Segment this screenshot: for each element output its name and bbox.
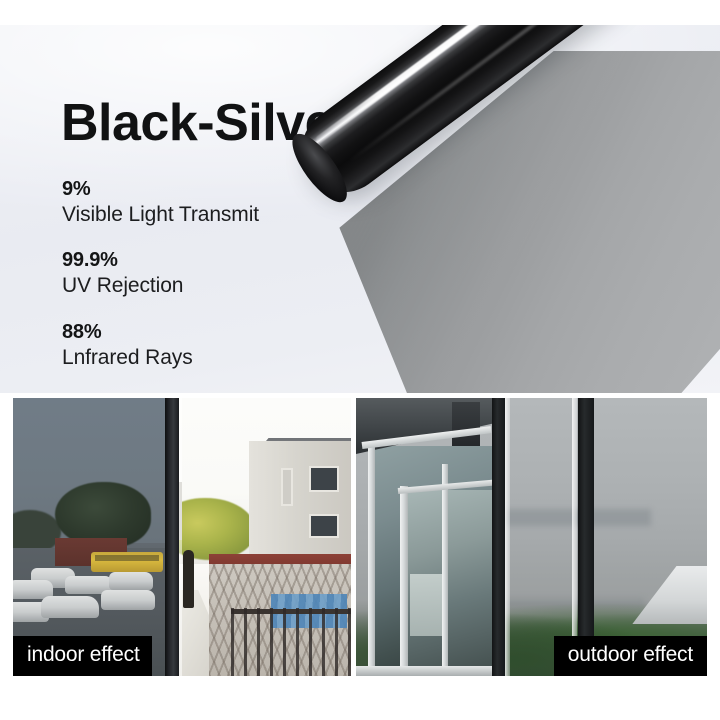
mullion-highlight <box>572 398 577 676</box>
person-silhouette <box>183 550 194 608</box>
building-window <box>309 466 339 492</box>
iron-fence <box>231 608 351 676</box>
indoor-caption-label: indoor effect <box>27 643 140 667</box>
glass-door-panel <box>410 574 444 636</box>
facade-mullion <box>492 398 505 676</box>
bus-windows <box>95 555 159 561</box>
hero-panel: Black-Silver 9% Visible Light Transmit 9… <box>0 25 720 393</box>
effect-photo-row: indoor effect <box>13 398 707 676</box>
parked-car <box>41 596 99 618</box>
window-frame <box>400 486 408 676</box>
indoor-effect-photo: indoor effect <box>13 398 351 676</box>
wall-fixture <box>452 402 480 446</box>
outdoor-caption-label: outdoor effect <box>568 643 693 667</box>
window-sill <box>356 666 492 676</box>
outdoor-effect-photo: outdoor effect <box>356 398 707 676</box>
parked-car <box>101 590 155 610</box>
building-pillar <box>281 468 293 506</box>
mullion-highlight <box>505 398 510 676</box>
tinted-window-pane <box>13 398 165 676</box>
product-infographic: Black-Silver 9% Visible Light Transmit 9… <box>0 0 720 720</box>
film-roll-image <box>286 25 720 393</box>
outdoor-caption: outdoor effect <box>554 636 707 676</box>
window-frame-post <box>165 398 179 676</box>
building-corner <box>356 398 492 676</box>
building-window <box>309 514 339 538</box>
window-frame-highlight <box>179 398 182 676</box>
window-frame <box>368 442 375 676</box>
facade-mullion <box>578 398 594 676</box>
parked-car <box>109 572 153 590</box>
indoor-caption: indoor effect <box>13 636 152 676</box>
window-frame <box>442 464 448 676</box>
